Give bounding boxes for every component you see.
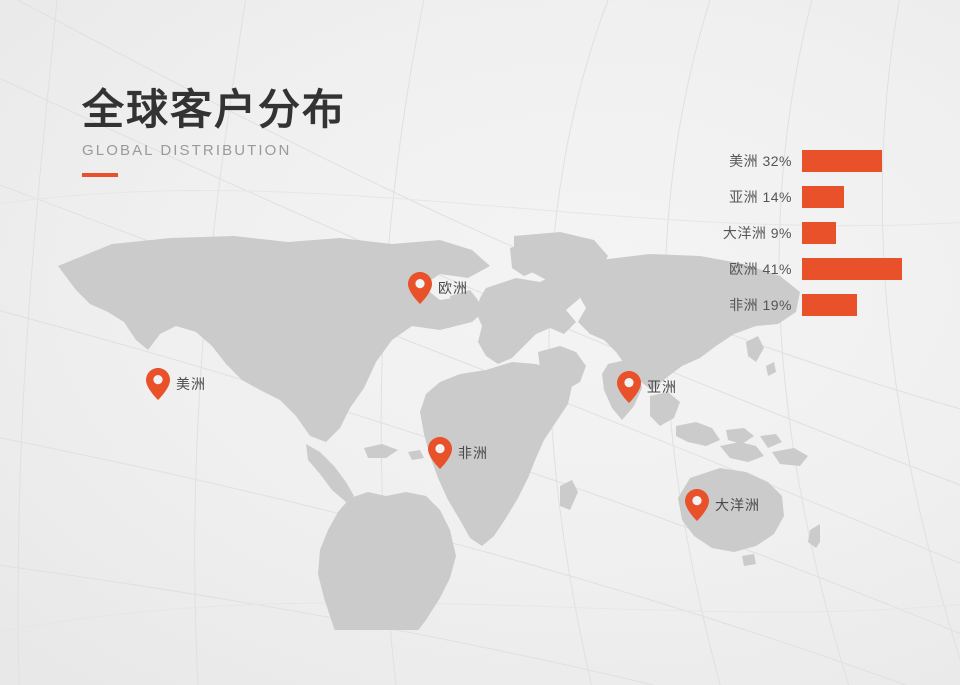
distribution-bar-chart: 美洲 32% 亚洲 14% 大洋洲 9% 欧洲 41% 非洲 19% [700, 150, 950, 330]
location-pin-icon [428, 437, 452, 469]
chart-row-track [802, 258, 950, 280]
map-pin-americas[interactable]: 美洲 [146, 368, 206, 400]
chart-row[interactable]: 非洲 19% [700, 294, 950, 316]
chart-row-track [802, 150, 950, 172]
location-pin-icon [617, 371, 641, 403]
chart-row-track [802, 294, 950, 316]
map-pin-label: 亚洲 [647, 377, 677, 397]
chart-row-label: 非洲 19% [700, 295, 802, 315]
chart-row[interactable]: 欧洲 41% [700, 258, 950, 280]
chart-row-label: 欧洲 41% [700, 259, 802, 279]
chart-row-track [802, 222, 950, 244]
chart-row-track [802, 186, 950, 208]
chart-bar [802, 186, 844, 208]
chart-row[interactable]: 亚洲 14% [700, 186, 950, 208]
map-pin-europe[interactable]: 欧洲 [408, 272, 468, 304]
map-pin-africa[interactable]: 非洲 [428, 437, 488, 469]
slide-canvas: 全球客户分布 GLOBAL DISTRIBUTION [0, 0, 960, 685]
chart-row[interactable]: 美洲 32% [700, 150, 950, 172]
chart-bar [802, 258, 902, 280]
map-pin-label: 非洲 [458, 443, 488, 463]
chart-bar [802, 222, 836, 244]
map-pin-label: 美洲 [176, 374, 206, 394]
world-map: 美洲 欧洲 亚洲 非洲 [0, 0, 960, 685]
chart-row-label: 大洋洲 9% [700, 223, 802, 243]
map-pin-label: 大洋洲 [715, 495, 760, 515]
chart-row-label: 亚洲 14% [700, 187, 802, 207]
chart-bar [802, 294, 857, 316]
location-pin-icon [408, 272, 432, 304]
chart-row-label: 美洲 32% [700, 151, 802, 171]
location-pin-icon [146, 368, 170, 400]
map-pin-asia[interactable]: 亚洲 [617, 371, 677, 403]
chart-bar [802, 150, 882, 172]
map-pin-oceania[interactable]: 大洋洲 [685, 489, 760, 521]
chart-row[interactable]: 大洋洲 9% [700, 222, 950, 244]
location-pin-icon [685, 489, 709, 521]
map-pin-label: 欧洲 [438, 278, 468, 298]
